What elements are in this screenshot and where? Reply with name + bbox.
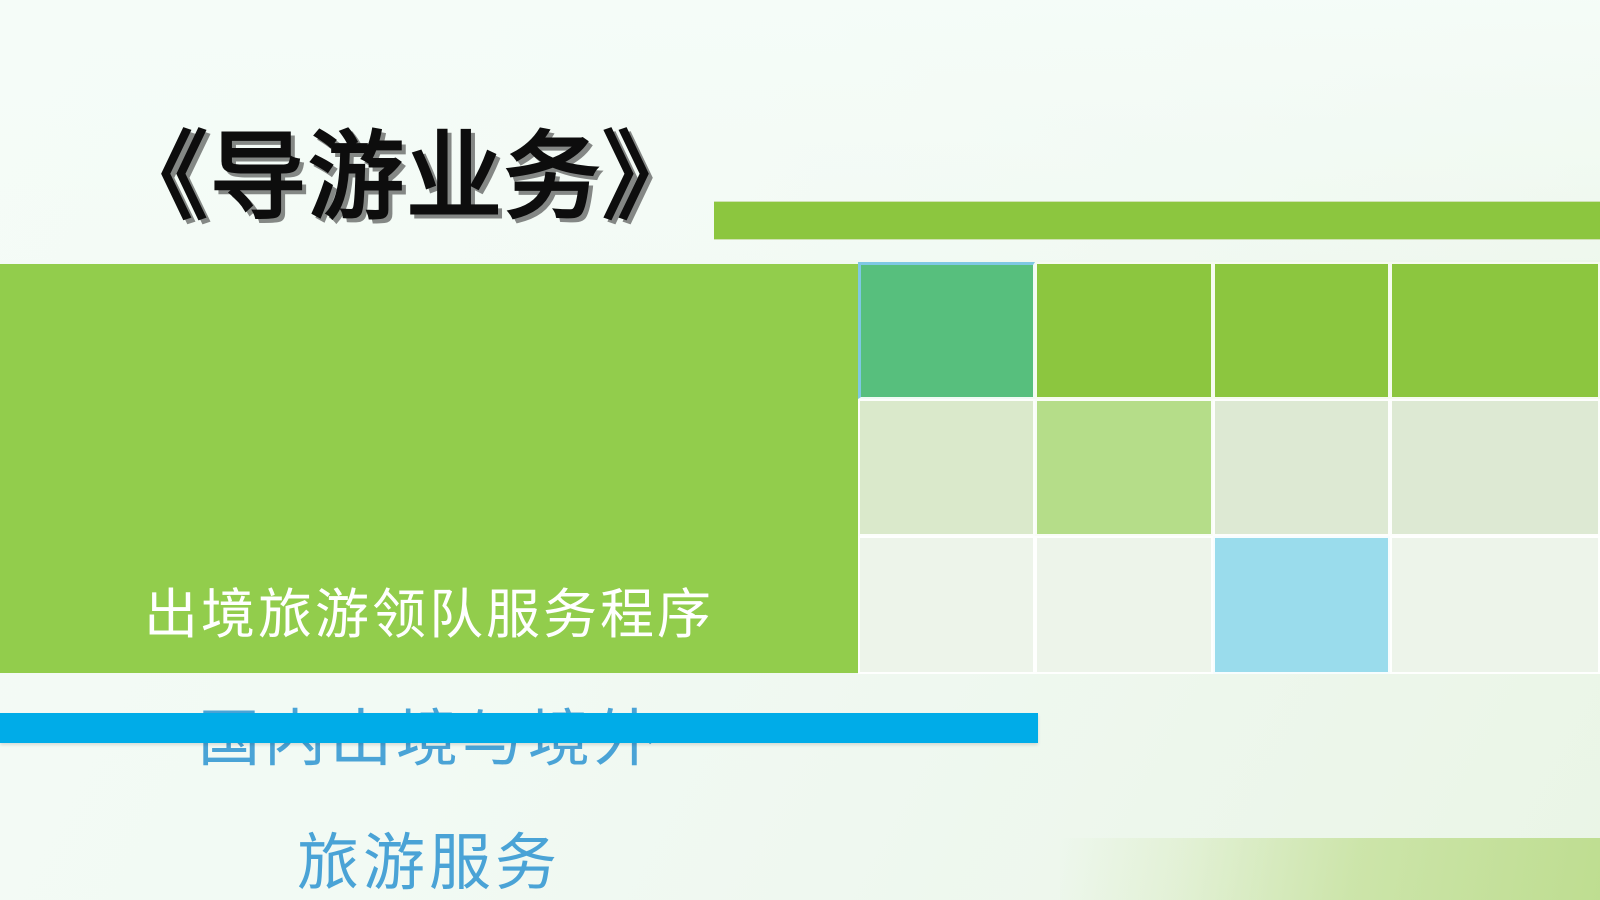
tile-r2c1 (858, 399, 1035, 536)
tile-r3c3 (1213, 536, 1390, 674)
tile-r2c3 (1213, 399, 1390, 536)
tile-r1c3 (1213, 262, 1390, 399)
footer-accent-bar (0, 713, 1038, 743)
tile-r1c1 (858, 262, 1035, 399)
tile-r3c2 (1035, 536, 1213, 674)
tile-r3c4 (1390, 536, 1600, 674)
presentation-slide: 《导游业务》 出境旅游领队服务程序 国内出境与境外 旅游服务 (0, 0, 1600, 900)
title-accent-bar (714, 201, 1600, 240)
decorative-tile-grid (858, 262, 1600, 674)
tile-r1c4 (1390, 262, 1600, 399)
background-corner-wash (1060, 838, 1600, 900)
tile-r1c2 (1035, 262, 1213, 399)
content-panel: 出境旅游领队服务程序 国内出境与境外 旅游服务 (0, 264, 858, 673)
tile-r3c1 (858, 536, 1035, 674)
panel-line-primary: 出境旅游领队服务程序 (0, 570, 858, 649)
panel-line-secondary-2: 旅游服务 (0, 812, 858, 900)
tile-r2c2 (1035, 399, 1213, 536)
slide-title: 《导游业务》 (112, 118, 732, 236)
tile-r2c4 (1390, 399, 1600, 536)
